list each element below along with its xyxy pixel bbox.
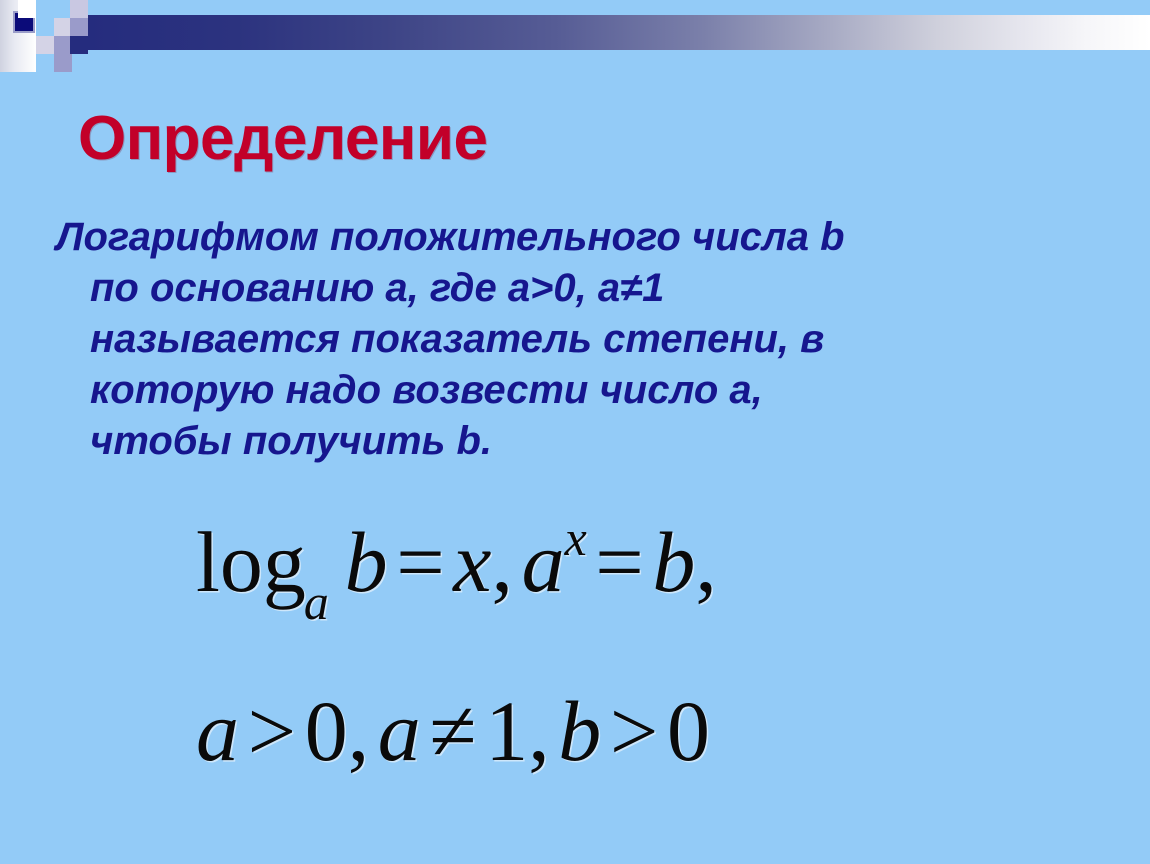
decoration-square-11: [18, 0, 36, 18]
definition-paragraph: Логарифмом положительного числа b по осн…: [56, 212, 1096, 467]
definition-line-1: Логарифмом положительного числа b: [56, 212, 1096, 263]
decoration-square-2: [36, 0, 54, 18]
formula1-base: a: [304, 575, 329, 630]
decoration-square-1: [15, 13, 33, 31]
decoration-square-9: [70, 18, 88, 36]
formula2-zero-2: 0: [667, 683, 710, 779]
decoration-gradient-bar: [88, 15, 1150, 50]
formula1-power-base: a: [522, 514, 565, 610]
formula1-log-word: log: [196, 514, 306, 610]
header-decoration: [0, 0, 1150, 75]
decoration-square-10: [70, 36, 88, 54]
formula1-comma-1: ,: [491, 514, 513, 610]
formula2-zero-1: 0: [305, 683, 348, 779]
formula2-var-b: b: [558, 683, 601, 779]
decoration-white-strip: [0, 0, 36, 72]
formula2-gt-2: >: [601, 683, 667, 779]
slide-canvas: Определение Логарифмом положительного чи…: [0, 0, 1150, 864]
definition-line-5: чтобы получить b.: [90, 416, 1096, 467]
decoration-square-5: [54, 18, 72, 36]
formula2-gt-1: >: [239, 683, 305, 779]
formula1-argument: b: [345, 514, 388, 610]
formula2-one: 1: [485, 683, 528, 779]
decoration-square-7: [54, 54, 72, 72]
formula-domain-conditions: a>0,a≠1,b>0: [196, 688, 710, 774]
formula1-equals-2: =: [587, 514, 653, 610]
page-title: Определение: [78, 103, 487, 174]
formula1-comma-2: ,: [695, 514, 717, 610]
definition-line-2: по основанию a, где a>0, a≠1: [90, 263, 1096, 314]
decoration-square-4: [36, 54, 54, 72]
decoration-square-3: [36, 36, 54, 54]
formula1-power-result: b: [652, 514, 695, 610]
formula1-exponent: x: [565, 511, 587, 566]
formula2-var-a-1: a: [196, 683, 239, 779]
formula2-neq: ≠: [421, 683, 485, 779]
formula-logarithm-definition: logab=x,ax=b,: [196, 519, 717, 618]
definition-line-4: которую надо возвести число a,: [90, 365, 1096, 416]
formula2-comma-1: ,: [348, 683, 370, 779]
formula1-equals: =: [388, 514, 454, 610]
decoration-square-8: [70, 0, 88, 18]
formula2-var-a-2: a: [378, 683, 421, 779]
definition-line-3: называется показатель степени, в: [90, 314, 1096, 365]
formula2-comma-2: ,: [528, 683, 550, 779]
decoration-square-6: [54, 36, 72, 54]
formula1-result: x: [453, 514, 491, 610]
